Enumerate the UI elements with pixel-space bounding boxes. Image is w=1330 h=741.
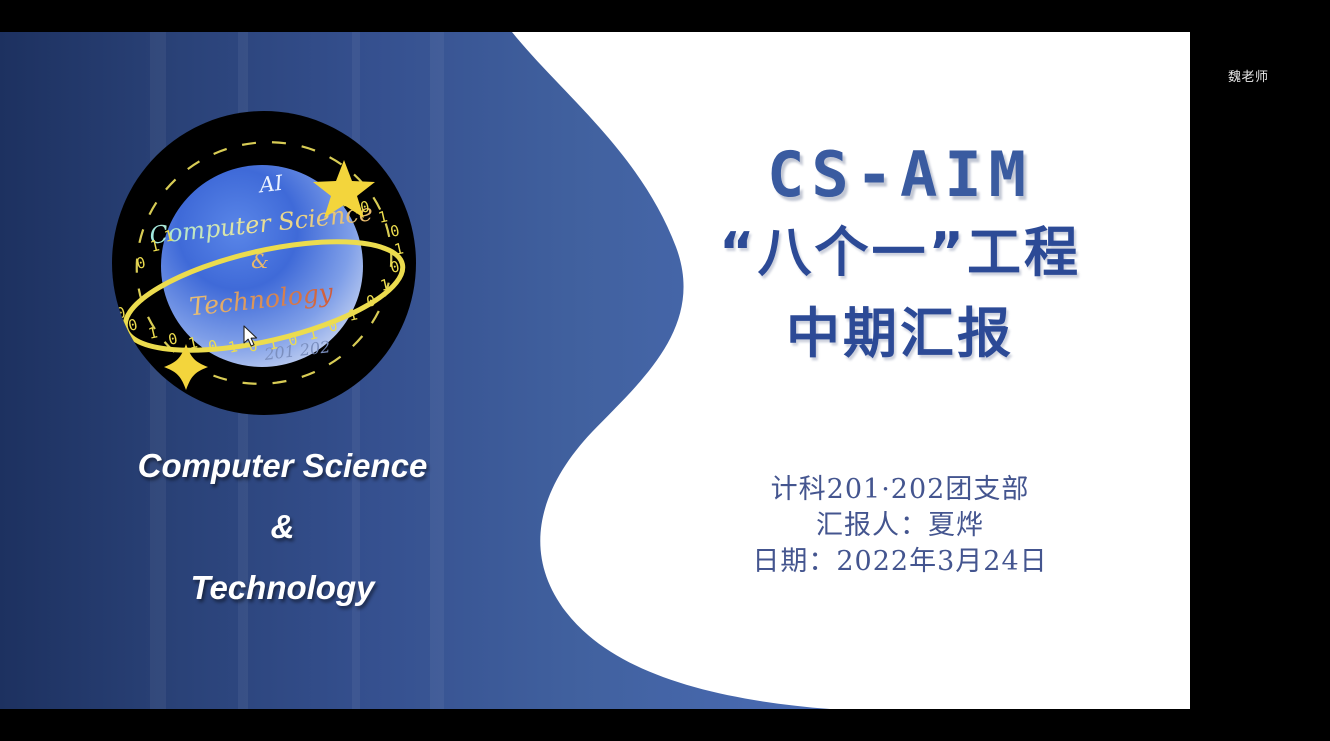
- meta-date: 日期：2022年3月24日: [620, 544, 1180, 580]
- svg-text:AI: AI: [256, 171, 285, 198]
- caption-line-1: Computer Science: [40, 435, 525, 496]
- slide-title-line-1: “八个一”工程: [620, 219, 1180, 288]
- caption-line-3: Technology: [40, 557, 525, 618]
- brand-title: CS-AIM: [620, 142, 1180, 207]
- meta-presenter: 汇报人：夏烨: [620, 508, 1180, 544]
- headline-block: CS-AIM “八个一”工程 中期汇报: [620, 142, 1180, 368]
- caption-line-2: &: [40, 496, 525, 557]
- screen-root: 魏老师: [0, 0, 1330, 741]
- presenter-meta-block: 计科201·202团支部 汇报人：夏烨 日期：2022年3月24日: [620, 472, 1180, 580]
- slide-title-line-2: 中期汇报: [620, 300, 1180, 369]
- shared-slide[interactable]: AI Computer Science & Technology 201 202…: [0, 32, 1190, 709]
- participant-name-label: 魏老师: [1228, 66, 1269, 85]
- department-caption: Computer Science & Technology: [40, 435, 525, 618]
- meta-organization: 计科201·202团支部: [620, 472, 1180, 508]
- cs-aim-logo: AI Computer Science & Technology 201 202…: [112, 108, 452, 428]
